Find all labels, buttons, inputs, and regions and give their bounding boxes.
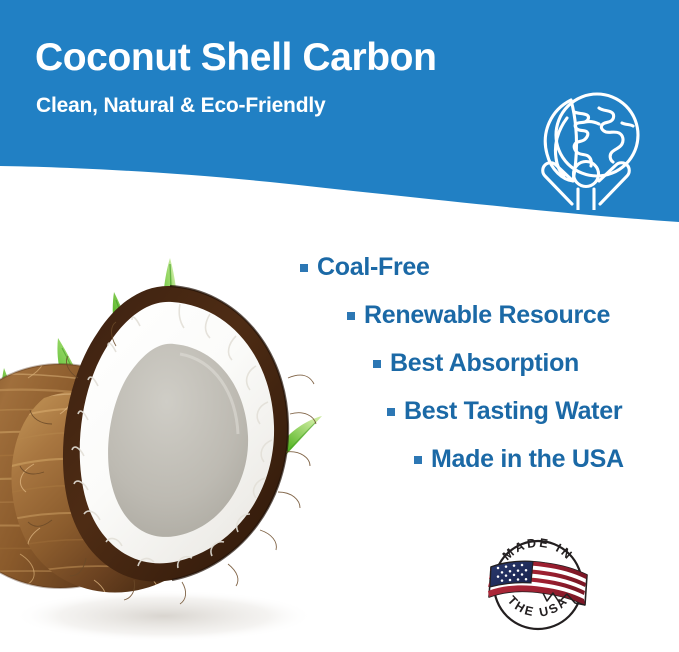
feature-label: Best Absorption <box>390 351 579 376</box>
bullet-square-icon <box>347 312 355 320</box>
feature-label: Best Tasting Water <box>404 399 622 424</box>
feature-item-3: Best Tasting Water <box>387 387 660 435</box>
page-title: Coconut Shell Carbon <box>35 38 437 77</box>
coconut-shell-carbon-banner: Coconut Shell Carbon Clean, Natural & Ec… <box>0 0 679 652</box>
feature-item-0: Coal-Free <box>300 243 660 291</box>
feature-label: Coal-Free <box>317 255 430 280</box>
feature-item-1: Renewable Resource <box>347 291 660 339</box>
coconut-illustration <box>0 228 344 652</box>
feature-item-4: Made in the USA <box>414 435 660 483</box>
header-text-group: Coconut Shell Carbon Clean, Natural & Ec… <box>0 0 679 230</box>
feature-list: Coal-Free Renewable Resource Best Absorp… <box>300 243 660 483</box>
bullet-square-icon <box>414 456 422 464</box>
feature-label: Renewable Resource <box>364 303 610 328</box>
made-in-usa-stamp: MADE IN THE USA <box>481 529 596 639</box>
bullet-square-icon <box>373 360 381 368</box>
feature-label: Made in the USA <box>431 447 624 472</box>
eco-globe-leaf-hands-icon <box>527 88 645 210</box>
page-subtitle: Clean, Natural & Eco-Friendly <box>36 95 325 116</box>
bullet-square-icon <box>387 408 395 416</box>
feature-item-2: Best Absorption <box>373 339 660 387</box>
coconut-half <box>4 286 316 608</box>
bullet-square-icon <box>300 264 308 272</box>
